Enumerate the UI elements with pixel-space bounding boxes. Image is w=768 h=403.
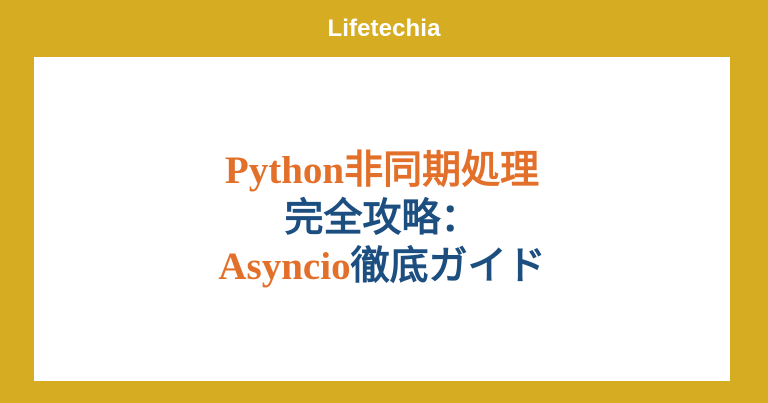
brand-logo-text: Lifetechia [327, 17, 440, 41]
thumbnail-canvas: Lifetechia Python非同期処理 完全攻略： Asyncio徹底ガイ… [0, 0, 768, 403]
article-title: Python非同期処理 完全攻略： Asyncio徹底ガイド [34, 147, 730, 291]
content-card: Python非同期処理 完全攻略： Asyncio徹底ガイド [34, 57, 730, 381]
brand-header: Lifetechia [0, 0, 768, 57]
title-line-3-text-navy: 徹底ガイド [351, 245, 546, 288]
title-line-2-text: 完全攻略： [284, 197, 479, 240]
title-line-3: Asyncio徹底ガイド [58, 243, 706, 291]
title-line-1: Python非同期処理 [58, 147, 706, 195]
title-line-1-text: Python非同期処理 [225, 149, 539, 192]
title-line-2: 完全攻略： [58, 195, 706, 243]
title-line-3-text-orange: Asyncio [218, 245, 350, 288]
